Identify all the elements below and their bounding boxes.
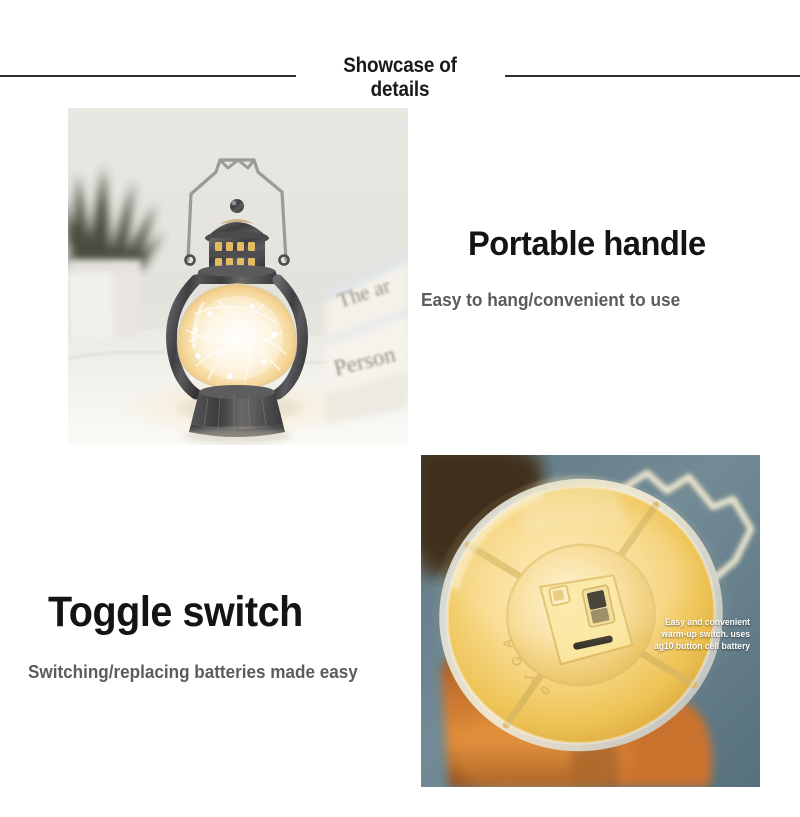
switch-photo-caption: Easy and convenient warm-up switch. uses… [654,616,750,652]
page-title-line2: details [310,78,490,102]
lantern-photo-illustration: The ar Person [68,108,408,445]
portable-handle-title: Portable handle [468,225,706,264]
svg-text:G: G [509,655,525,667]
header-rule-left [0,75,296,77]
portable-handle-subtitle: Easy to hang/convenient to use [421,290,680,311]
toggle-switch-subtitle: Switching/replacing batteries made easy [28,662,358,683]
showcase-page: Showcase of details [0,0,800,817]
caption-line-3: ag10 button cell battery [654,640,750,652]
svg-text:A: A [500,638,515,649]
lantern-on-table-photo: The ar Person [68,108,408,445]
page-title-line1: Showcase of [310,54,490,78]
caption-line-2: warm-up switch. uses [654,628,750,640]
section-header: Showcase of details [0,24,800,84]
header-rule-right [505,75,800,77]
toggle-switch-title: Toggle switch [48,588,303,637]
caption-line-1: Easy and convenient [654,616,750,628]
page-title: Showcase of details [310,52,490,103]
lantern-base-switch-photo: A G 1 0 Easy and convenient warm-up swit… [421,455,760,787]
